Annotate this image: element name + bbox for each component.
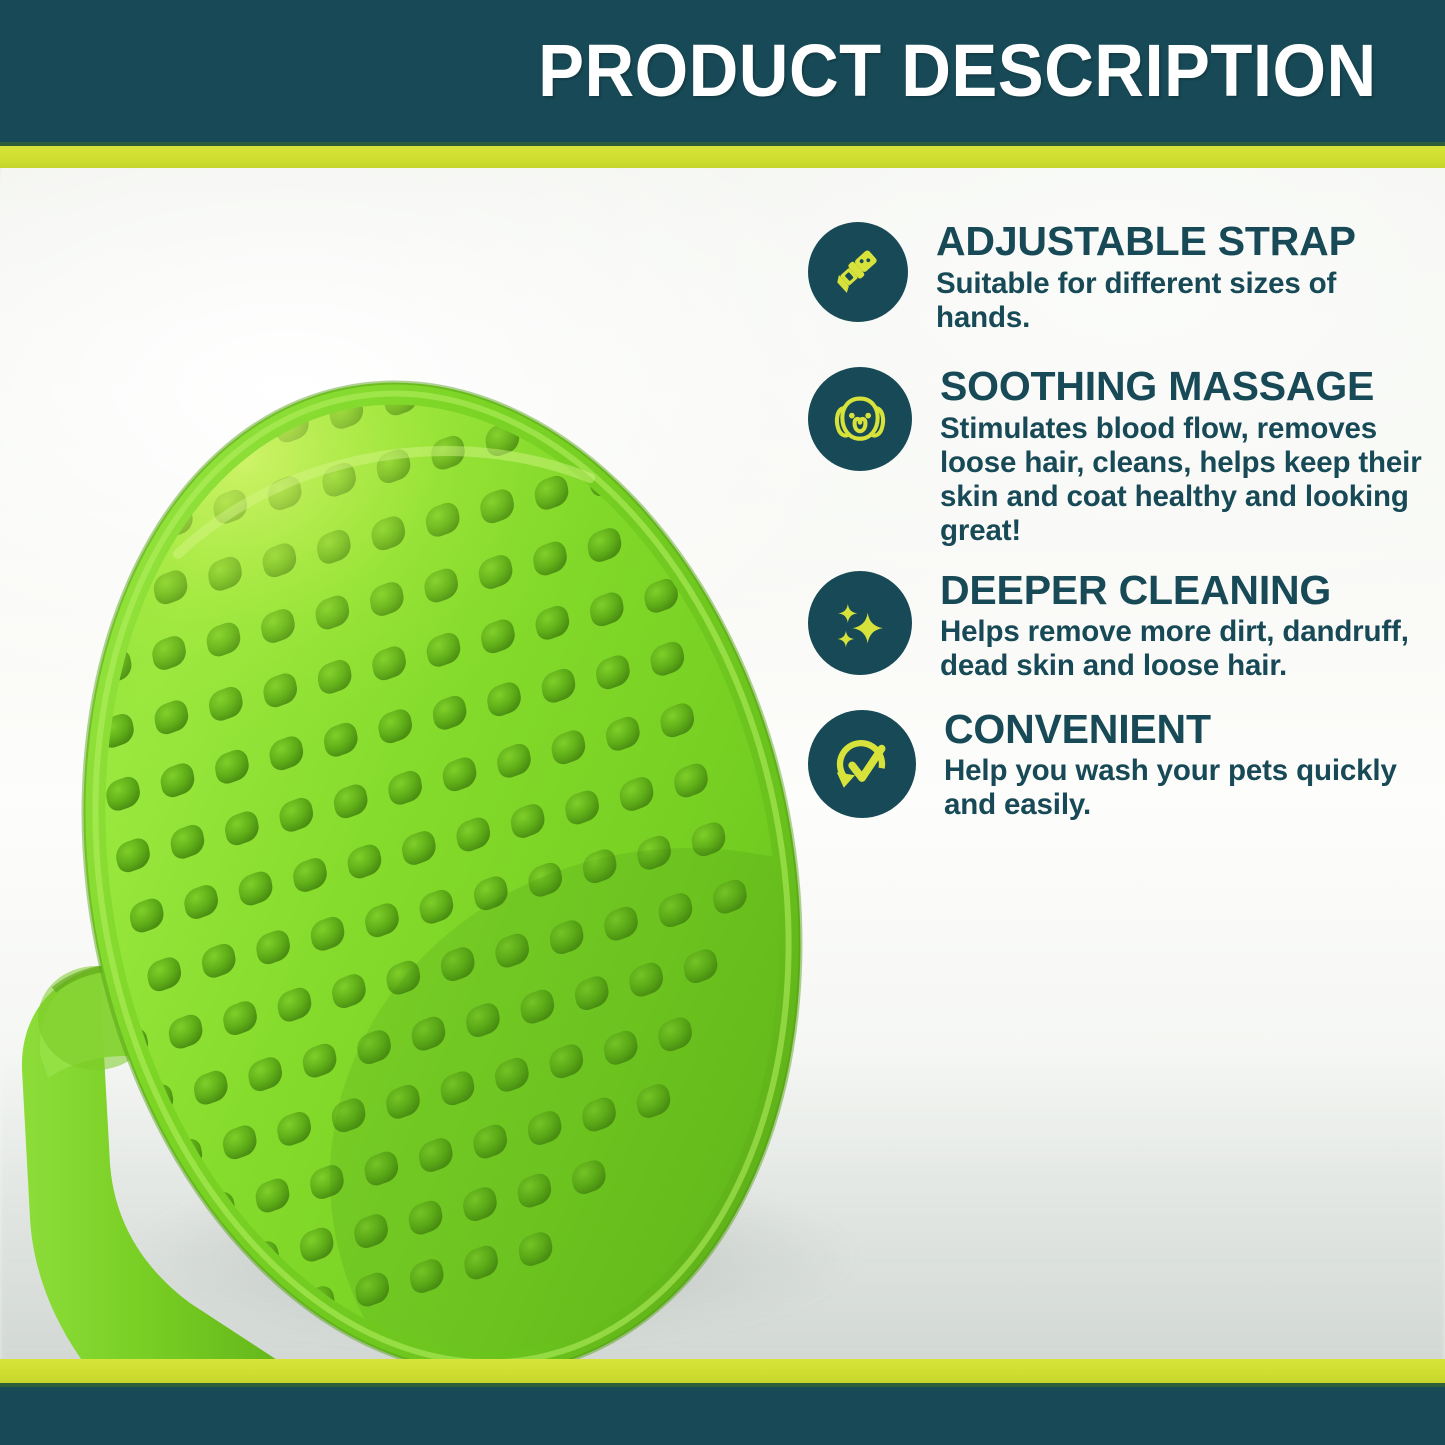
feature-item-adjustable-strap: ADJUSTABLE STRAP Suitable for different … [808,218,1428,335]
footer-bar [0,1387,1445,1445]
feature-title: SOOTHING MASSAGE [940,365,1428,408]
feature-item-deeper-cleaning: DEEPER CLEANING Helps remove more dirt, … [808,567,1428,684]
feature-text-block: SOOTHING MASSAGE Stimulates blood flow, … [940,363,1428,549]
sparkles-icon [808,571,912,675]
check-refresh-icon [808,710,916,818]
feature-text-block: CONVENIENT Help you wash your pets quick… [944,706,1428,823]
dog-face-icon [808,367,912,471]
feature-title: CONVENIENT [944,708,1428,751]
feature-title: DEEPER CLEANING [940,569,1428,612]
header-bar: PRODUCT DESCRIPTION [0,0,1445,142]
feature-text-block: DEEPER CLEANING Helps remove more dirt, … [940,567,1428,684]
feature-description: Stimulates blood flow, removes loose hai… [940,412,1428,549]
product-description-infographic: PRODUCT DESCRIPTION [0,0,1445,1445]
feature-description: Helps remove more dirt, dandruff, dead s… [940,615,1428,683]
accent-stripe-top [0,146,1445,168]
feature-list: ADJUSTABLE STRAP Suitable for different … [808,218,1428,823]
accent-stripe-bottom [0,1359,1445,1383]
feature-item-convenient: CONVENIENT Help you wash your pets quick… [808,706,1428,823]
feature-item-soothing-massage: SOOTHING MASSAGE Stimulates blood flow, … [808,363,1428,549]
page-title: PRODUCT DESCRIPTION [538,34,1377,108]
pet-grooming-brush-image [0,318,890,1387]
feature-title: ADJUSTABLE STRAP [936,220,1428,263]
feature-description: Help you wash your pets quickly and easi… [944,754,1428,822]
belt-strap-icon [808,222,908,322]
feature-text-block: ADJUSTABLE STRAP Suitable for different … [936,218,1428,335]
feature-description: Suitable for different sizes of hands. [936,267,1428,335]
